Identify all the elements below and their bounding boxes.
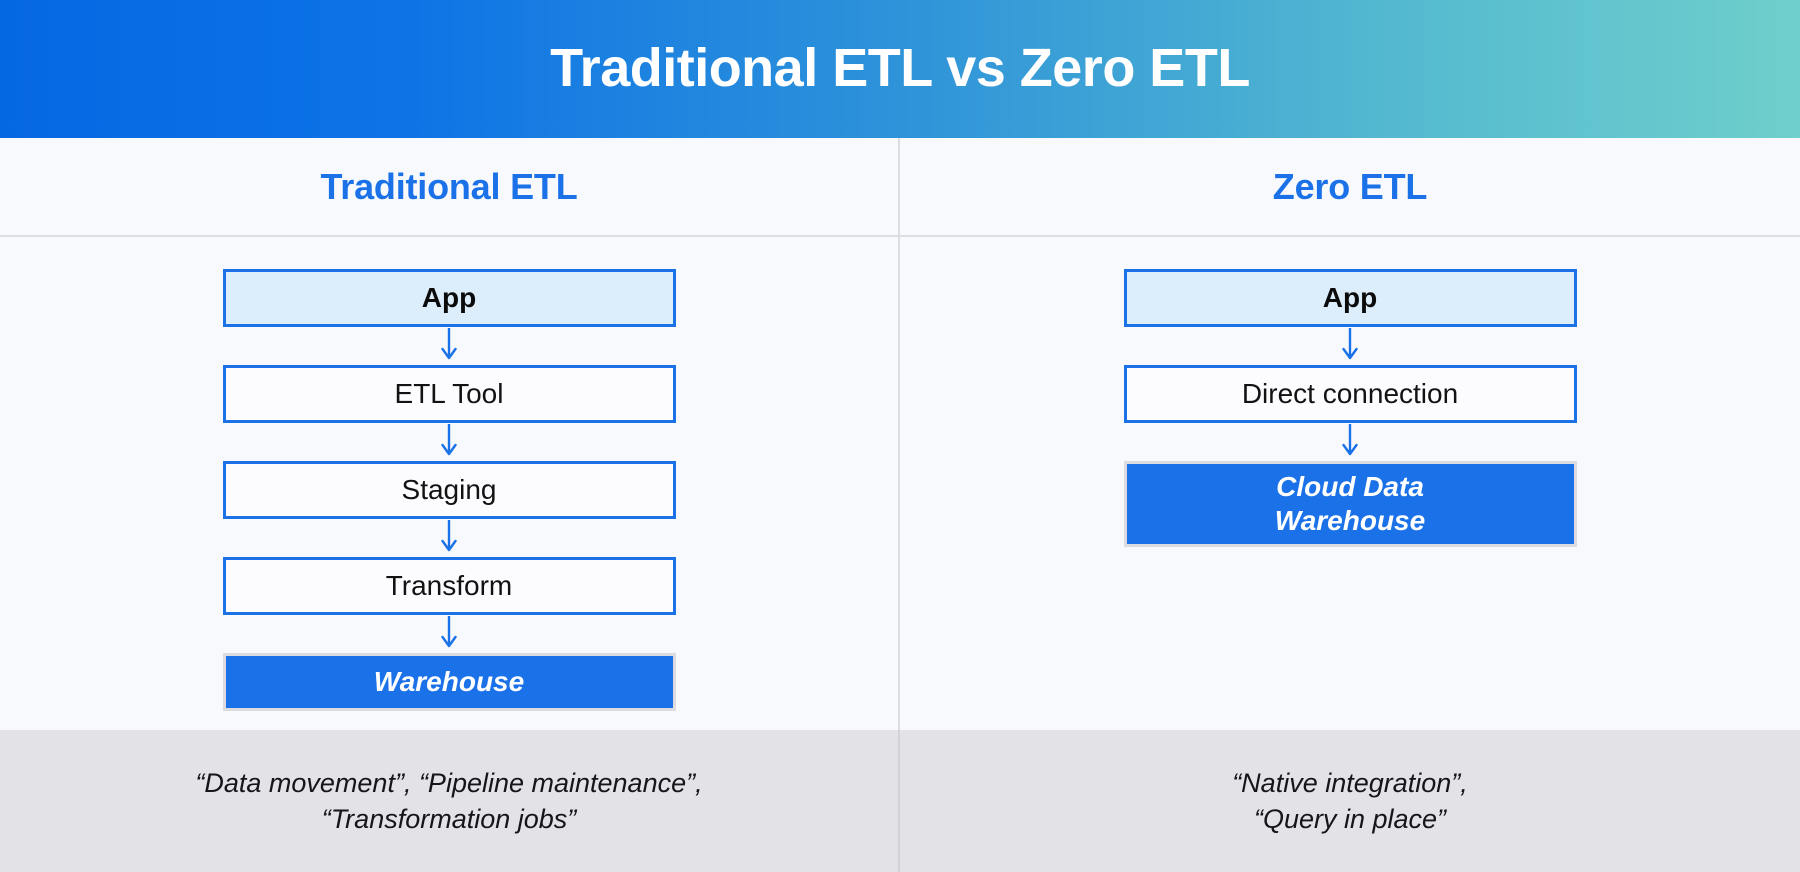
flow-node-app: App — [1124, 269, 1577, 327]
flow-body-row: App ETL Tool Staging — [0, 237, 1800, 730]
header-banner: Traditional ETL vs Zero ETL — [0, 0, 1800, 138]
flow-node-staging: Staging — [223, 461, 676, 519]
footer-keywords-line2: “Transformation jobs” — [195, 801, 702, 837]
footer-cell-zero-etl: “Native integration”, “Query in place” — [900, 730, 1800, 872]
flow-node-transform: Transform — [223, 557, 676, 615]
flow-column-traditional-etl: App ETL Tool Staging — [0, 237, 900, 730]
flow-column-zero-etl: App Direct connection Cloud Data Warehou… — [900, 237, 1800, 730]
column-header-traditional-etl: Traditional ETL — [0, 138, 900, 235]
flow-arrow-down-icon — [1124, 423, 1577, 461]
flow-node-label: ETL Tool — [395, 377, 504, 411]
footer-band: “Data movement”, “Pipeline maintenance”,… — [0, 730, 1800, 872]
flow-node-label: Transform — [386, 569, 513, 603]
column-header-label: Zero ETL — [1273, 166, 1427, 208]
column-header-label: Traditional ETL — [320, 166, 577, 208]
flow-node-label-line2: Warehouse — [1275, 504, 1425, 538]
footer-keywords-line2: “Query in place” — [1232, 801, 1468, 837]
flow-node-warehouse: Warehouse — [223, 653, 676, 711]
comparison-diagram: Traditional ETL vs Zero ETL Traditional … — [0, 0, 1800, 872]
flow-node-label: Warehouse — [374, 665, 524, 699]
page-title: Traditional ETL vs Zero ETL — [550, 39, 1250, 98]
flow-node-cloud-data-warehouse: Cloud Data Warehouse — [1124, 461, 1577, 547]
footer-keywords: “Data movement”, “Pipeline maintenance”,… — [195, 765, 702, 838]
flow-node-app: App — [223, 269, 676, 327]
flow-arrow-down-icon — [223, 423, 676, 461]
flow-arrow-down-icon — [1124, 327, 1577, 365]
flow-node-label: Staging — [402, 473, 497, 507]
footer-keywords-line1: “Data movement”, “Pipeline maintenance”, — [195, 765, 702, 801]
flow-arrow-down-icon — [223, 519, 676, 557]
footer-keywords: “Native integration”, “Query in place” — [1232, 765, 1468, 838]
flow-node-etl-tool: ETL Tool — [223, 365, 676, 423]
footer-cell-traditional-etl: “Data movement”, “Pipeline maintenance”,… — [0, 730, 900, 872]
flow-node-label: Direct connection — [1242, 377, 1458, 411]
column-header-zero-etl: Zero ETL — [900, 138, 1800, 235]
column-header-row: Traditional ETL Zero ETL — [0, 138, 1800, 237]
flow-node-label-line1: Cloud Data — [1276, 470, 1424, 504]
flow-node-direct-connection: Direct connection — [1124, 365, 1577, 423]
flow-arrow-down-icon — [223, 327, 676, 365]
flow-node-label: App — [422, 281, 476, 315]
footer-keywords-line1: “Native integration”, — [1232, 765, 1468, 801]
flow-arrow-down-icon — [223, 615, 676, 653]
flow-node-label: App — [1323, 281, 1377, 315]
